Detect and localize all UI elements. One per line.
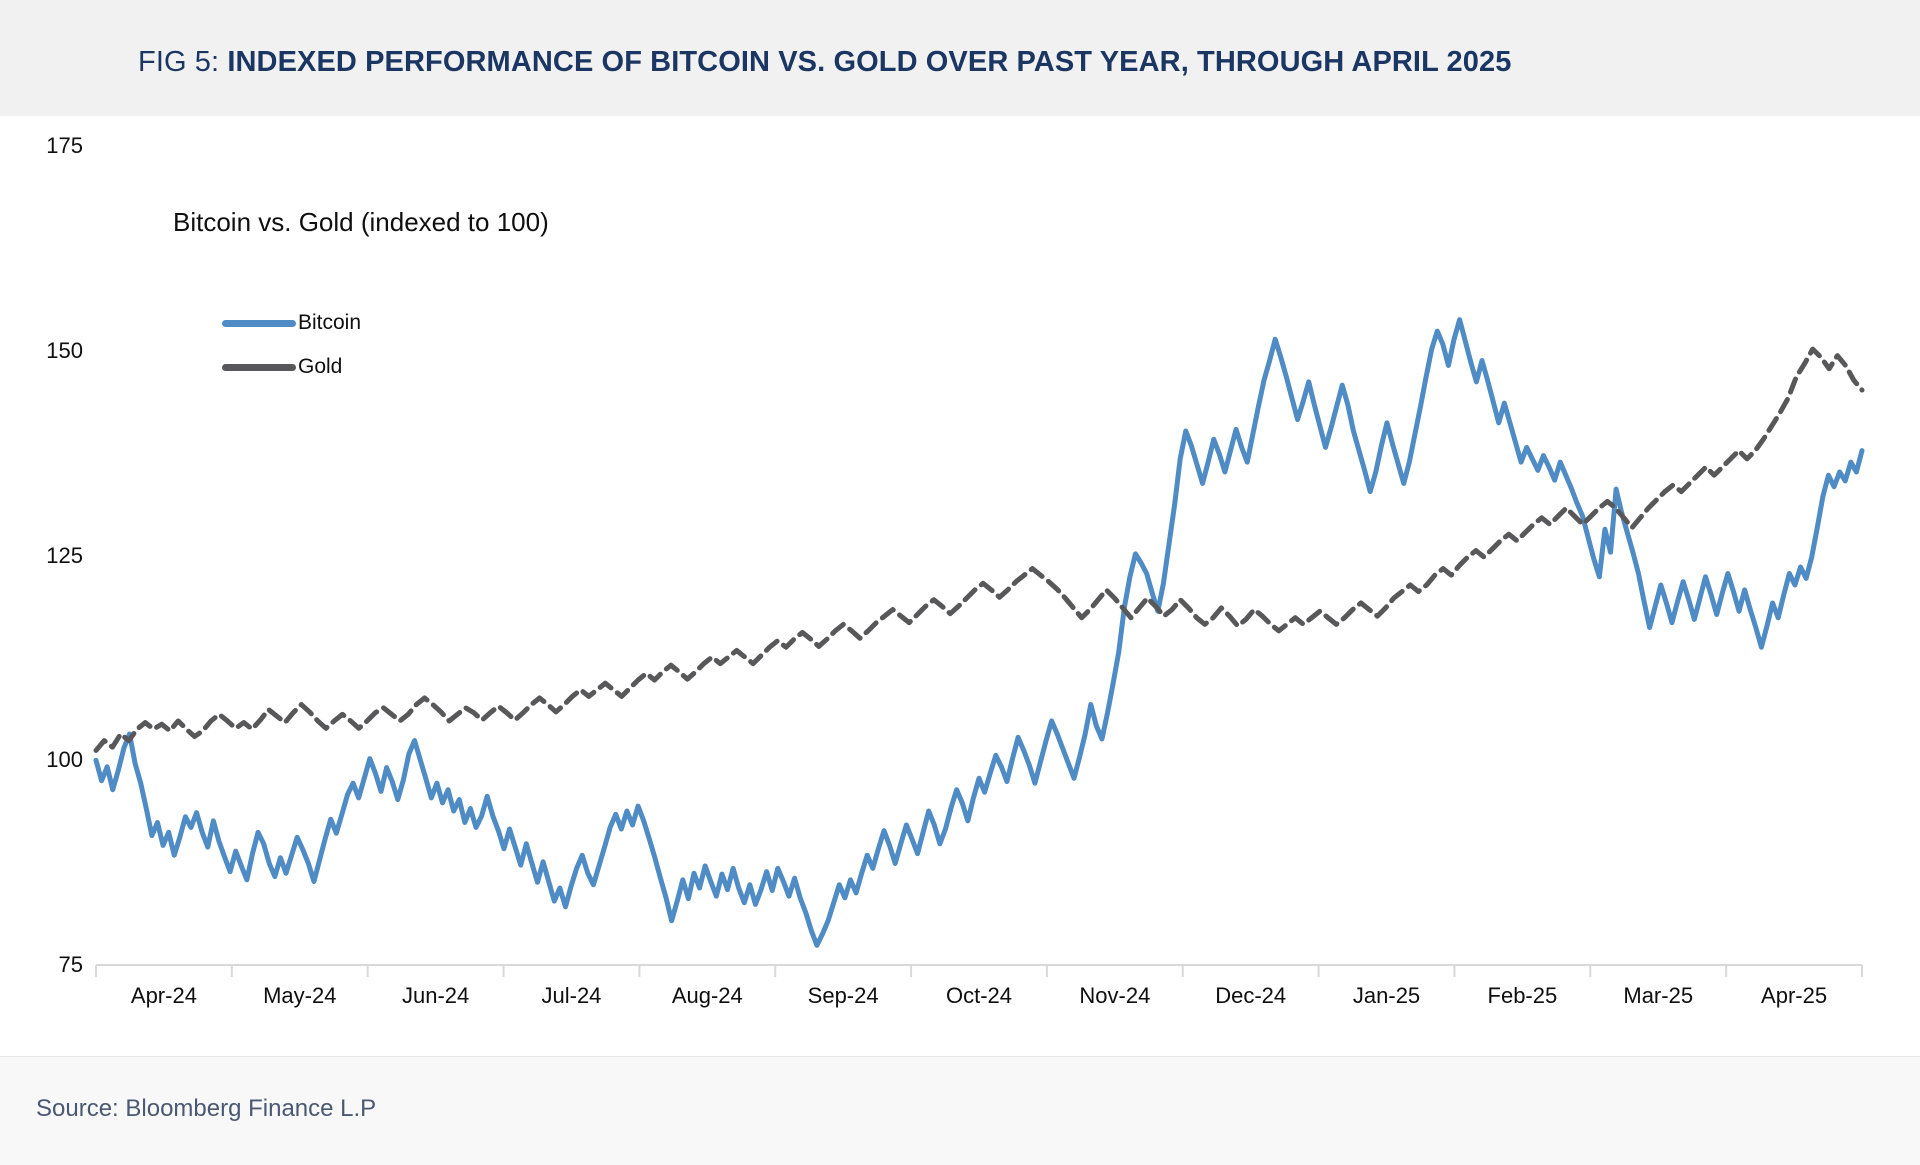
figure-number: FIG 5: bbox=[138, 46, 219, 78]
series-line-gold bbox=[96, 349, 1862, 750]
series-line-bitcoin bbox=[96, 320, 1862, 946]
chart-area: Bitcoin vs. Gold (indexed to 100) Bitcoi… bbox=[0, 116, 1920, 1056]
footer-band: Source: Bloomberg Finance L.P bbox=[0, 1056, 1920, 1165]
header-band: FIG 5: INDEXED PERFORMANCE OF BITCOIN VS… bbox=[0, 0, 1920, 116]
axis-group bbox=[96, 965, 1862, 977]
x-axis-tickmarks bbox=[96, 965, 1862, 977]
data-series-group bbox=[96, 320, 1862, 946]
figure-page: FIG 5: INDEXED PERFORMANCE OF BITCOIN VS… bbox=[0, 0, 1920, 1164]
plot-canvas bbox=[0, 116, 1920, 1056]
page-title: FIG 5: INDEXED PERFORMANCE OF BITCOIN VS… bbox=[138, 46, 1511, 79]
source-note: Source: Bloomberg Finance L.P bbox=[36, 1095, 376, 1123]
figure-title-text: INDEXED PERFORMANCE OF BITCOIN VS. GOLD … bbox=[227, 46, 1511, 78]
